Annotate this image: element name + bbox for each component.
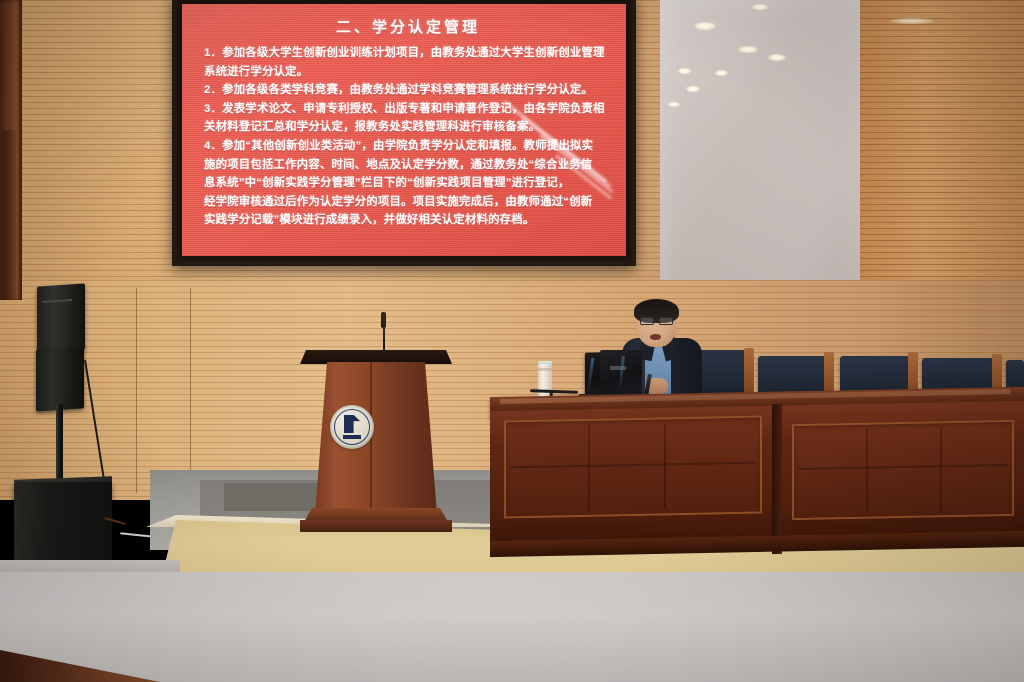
ceiling-light-reflection: [678, 68, 691, 74]
slide-line: 息系统”中“创新实践学分管理”栏目下的“创新实践项目管理”进行登记，: [204, 174, 612, 193]
table-panel-groove: [588, 425, 590, 511]
ceiling-light-reflection: [715, 70, 728, 76]
table-front-panel: [792, 420, 1014, 520]
ceiling-light-reflection: [694, 22, 716, 30]
university-seal-bar: [343, 435, 361, 439]
led-wall-display[interactable]: 二、学分认定管理 1．参加各级大学生创新创业训练计划项目，由教务处通过大学生创新…: [172, 0, 636, 266]
room-floor: [0, 572, 1024, 682]
ceiling-light-reflection: [668, 102, 680, 107]
ceiling-light-reflection: [738, 46, 758, 53]
wall-light-glint: [890, 18, 934, 24]
floor-cable: [120, 532, 154, 538]
line-array-speaker-top: [37, 283, 85, 352]
ceiling-light-reflection: [752, 4, 768, 10]
table-panel-groove: [664, 423, 666, 509]
slide-line: 4．参加“其他创新创业类活动”，由学院负责学分认定和填报。教师提出拟实: [204, 137, 612, 156]
eyeglasses-lens-left: [640, 317, 654, 325]
wall-panel-seam: [190, 288, 191, 493]
wall-panel-seam: [136, 288, 137, 493]
line-array-speaker-mid: [36, 346, 84, 411]
subwoofer-cabinet: [14, 482, 112, 560]
slide-line: 实践学分记载”模块进行成绩录入，并做好相关认定材料的存档。: [204, 211, 612, 230]
slide-line: 关材料登记汇总和学分认定，报教务处实践管理科进行审核备案。: [204, 118, 612, 137]
table-section-divider: [772, 404, 782, 554]
conference-chair-post: [744, 348, 754, 396]
table-panel-groove: [866, 429, 868, 513]
podium-plinth: [300, 520, 452, 532]
table-panel-groove: [510, 462, 756, 468]
ceiling-light-reflection: [768, 54, 786, 61]
slide-line: 经学院审核通过后作为认定学分的项目。项目实施完成后，由教师通过“创新: [204, 193, 612, 212]
slide-line: 2．参加各级各类学科竞赛，由教务处通过学科竞赛管理系统进行学分认定。: [204, 81, 612, 100]
slide-line: 1．参加各级大学生创新创业训练计划项目，由教务处通过大学生创新创业管理: [204, 44, 612, 63]
led-screen-surface: 二、学分认定管理 1．参加各级大学生创新创业训练计划项目，由教务处通过大学生创新…: [182, 4, 626, 256]
lecture-hall-scene: 二、学分认定管理 1．参加各级大学生创新创业训练计划项目，由教务处通过大学生创新…: [0, 0, 1024, 682]
table-front-panel: [504, 416, 762, 519]
speaker-mouth: [650, 334, 661, 340]
table-panel-groove: [798, 464, 1008, 470]
slide-line: 施的项目包括工作内容、时间、地点及认定学分数，通过教务处“综合业务信: [204, 156, 612, 175]
slide-line: 3．发表学术论文、申请专利授权、出版专著和申请著作登记，由各学院负责相: [204, 100, 612, 119]
slide-title: 二、学分认定管理: [204, 16, 612, 37]
ceiling-light-reflection: [686, 86, 700, 92]
podium-top-surface: [300, 350, 452, 364]
table-panel-groove: [940, 427, 942, 511]
eyeglasses-bridge: [654, 320, 659, 321]
eyeglasses-lens-right: [659, 317, 673, 325]
water-bottle-label: [538, 368, 552, 371]
left-side-door-panel: [2, 130, 16, 300]
presentation-slide: 二、学分认定管理 1．参加各级大学生创新创业训练计划项目，由教务处通过大学生创新…: [182, 4, 626, 256]
slide-line: 系统进行学分认定。: [204, 63, 612, 82]
